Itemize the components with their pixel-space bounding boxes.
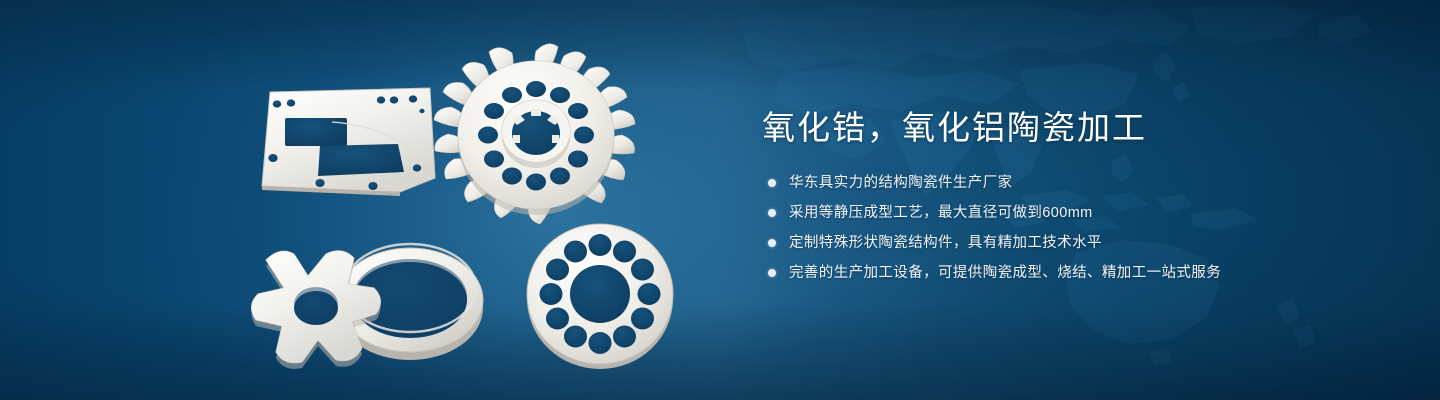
banner-copy: 氧化锆，氧化铝陶瓷加工 华东具实力的结构陶瓷件生产厂家 采用等静压成型工艺，最大…	[762, 106, 1382, 284]
feature-list: 华东具实力的结构陶瓷件生产厂家 采用等静压成型工艺，最大直径可做到600mm 定…	[762, 172, 1382, 284]
bullet-dot-icon	[768, 209, 776, 217]
list-item: 定制特殊形状陶瓷结构件，具有精加工技术水平	[762, 232, 1382, 254]
list-item-label: 定制特殊形状陶瓷结构件，具有精加工技术水平	[789, 232, 1102, 254]
bullet-dot-icon	[768, 239, 776, 247]
list-item-label: 华东具实力的结构陶瓷件生产厂家	[789, 172, 1013, 194]
bullet-dot-icon	[768, 179, 776, 187]
list-item: 华东具实力的结构陶瓷件生产厂家	[762, 172, 1382, 194]
list-item: 采用等静压成型工艺，最大直径可做到600mm	[762, 202, 1382, 224]
page-title: 氧化锆，氧化铝陶瓷加工	[762, 106, 1382, 150]
bullet-dot-icon	[768, 269, 776, 277]
list-item-label: 完善的生产加工设备，可提供陶瓷成型、烧结、精加工一站式服务	[789, 262, 1221, 284]
list-item: 完善的生产加工设备，可提供陶瓷成型、烧结、精加工一站式服务	[762, 262, 1382, 284]
promo-banner: 氧化锆，氧化铝陶瓷加工 华东具实力的结构陶瓷件生产厂家 采用等静压成型工艺，最大…	[0, 0, 1440, 400]
list-item-label: 采用等静压成型工艺，最大直径可做到600mm	[789, 202, 1093, 224]
